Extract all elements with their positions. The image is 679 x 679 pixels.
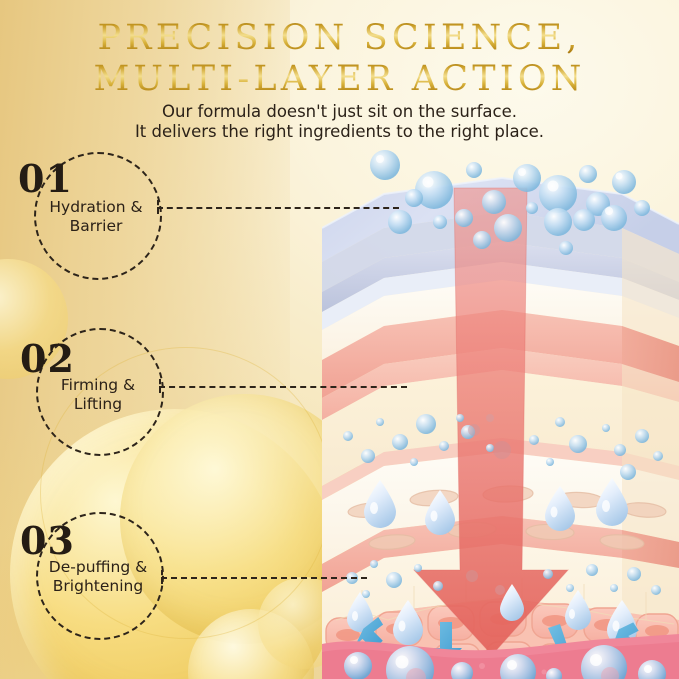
title-line-2: MULTI-LAYER ACTION [0,59,679,100]
step-01-connector [157,207,399,209]
step-02-label: Firming & Lifting [23,376,173,413]
step-01-label-line-1: Hydration & [21,198,171,217]
title-line-1: PRECISION SCIENCE, [0,18,679,59]
step-02-connector [159,386,407,388]
step-03-number: 03 [20,522,75,560]
subtitle-line-2: It delivers the right ingredients to the… [0,122,679,142]
page-title: PRECISION SCIENCE, MULTI-LAYER ACTION [0,18,679,100]
step-01-label: Hydration & Barrier [21,198,171,235]
step-01-number: 01 [18,160,73,198]
step-02-number: 02 [20,340,75,378]
infographic-canvas: PRECISION SCIENCE, MULTI-LAYER ACTION Ou… [0,0,679,679]
subtitle-line-1: Our formula doesn't just sit on the surf… [0,102,679,122]
subtitle: Our formula doesn't just sit on the surf… [0,102,679,142]
step-03-connector [161,577,367,579]
step-03-label-line-1: De-puffing & [23,558,173,577]
step-02-label-line-1: Firming & [23,376,173,395]
step-02-label-line-2: Lifting [23,395,173,414]
step-03-label-line-2: Brightening [23,577,173,596]
step-01-label-line-2: Barrier [21,217,171,236]
step-03-label: De-puffing & Brightening [23,558,173,595]
skin-cross-section-diagram [322,150,679,679]
